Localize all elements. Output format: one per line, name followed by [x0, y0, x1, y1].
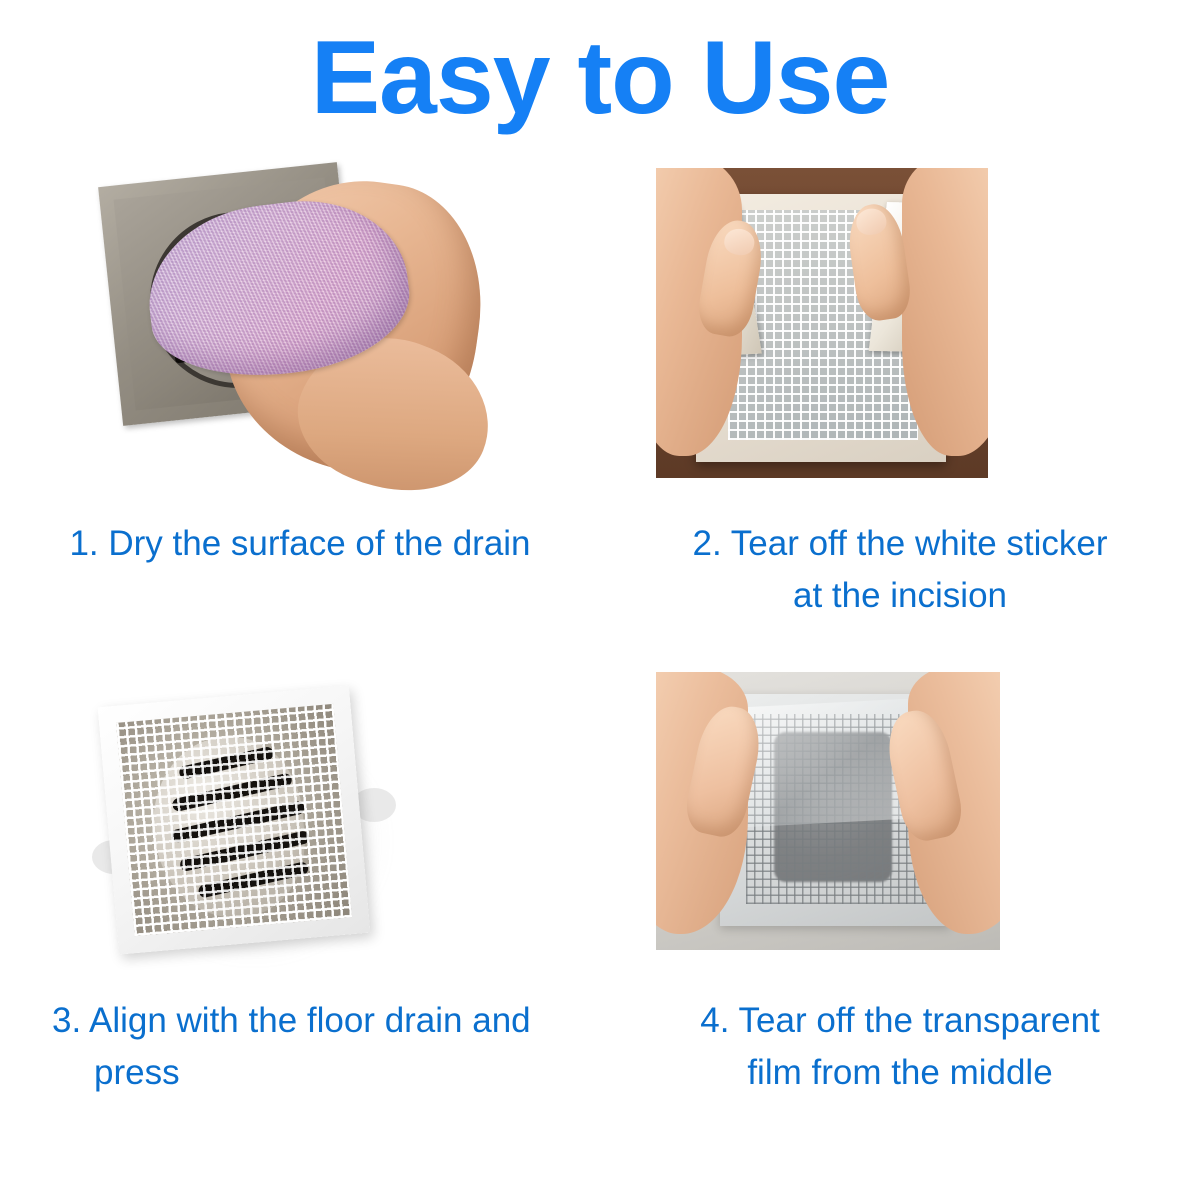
step-card-1: 1. Dry the surface of the drain: [0, 160, 600, 650]
step-4-caption: 4. Tear off the transparent film from th…: [600, 995, 1200, 1099]
steps-grid: 1. Dry the surface of the drain 2. Tear …: [0, 160, 1200, 1200]
step-card-3: 3. Align with the floor drain and press: [0, 660, 600, 1200]
step-4-photo: [600, 660, 1200, 1005]
step-2-caption: 2. Tear off the white sticker at the inc…: [600, 518, 1200, 622]
step-card-2: 2. Tear off the white sticker at the inc…: [600, 160, 1200, 650]
fingernail: [855, 207, 888, 237]
drain-wipe-illustration: [0, 160, 600, 505]
peel-film-illustration: [656, 672, 1000, 950]
page-title: Easy to Use: [0, 26, 1200, 130]
caption-line: press: [52, 1047, 600, 1099]
step-2-photo: [600, 160, 1200, 505]
step-3-photo: [0, 660, 600, 1005]
step-3-caption: 3. Align with the floor drain and press: [0, 995, 600, 1099]
peel-sticker-illustration: [656, 168, 988, 478]
caption-line: 2. Tear off the white sticker: [600, 518, 1200, 570]
caption-line: 1. Dry the surface of the drain: [0, 518, 600, 570]
step-1-photo: [0, 160, 600, 505]
step-1-caption: 1. Dry the surface of the drain: [0, 518, 600, 570]
fingernail: [722, 227, 756, 258]
caption-line: 4. Tear off the transparent: [600, 995, 1200, 1047]
mesh-grid-overlay: [116, 704, 352, 936]
mesh-sticker-card: [98, 685, 371, 954]
hand-right: [902, 168, 988, 456]
align-sticker-illustration: [0, 660, 600, 990]
caption-line: at the incision: [600, 570, 1200, 622]
step-card-4: 4. Tear off the transparent film from th…: [600, 660, 1200, 1200]
caption-line: film from the middle: [600, 1047, 1200, 1099]
caption-line: 3. Align with the floor drain and: [52, 995, 600, 1047]
